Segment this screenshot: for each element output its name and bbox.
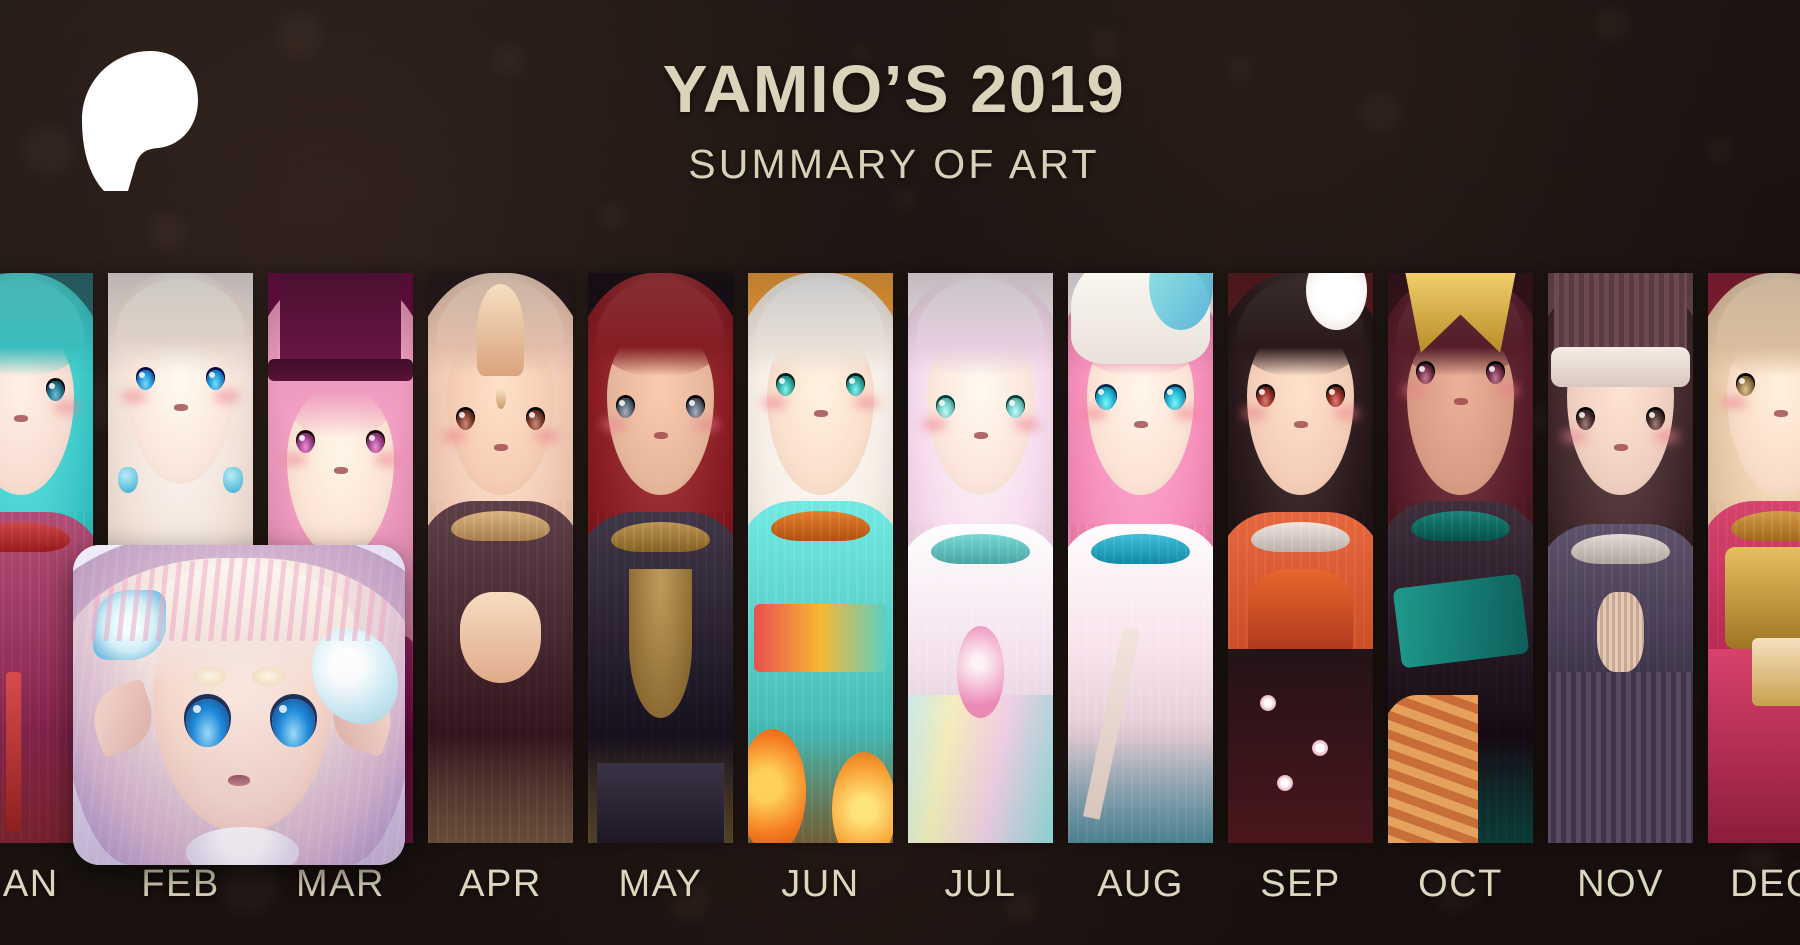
teal-sash: [1392, 573, 1528, 668]
artwork-oct: [1388, 273, 1533, 843]
gold-crown: [477, 284, 523, 375]
month-panel-aug[interactable]: [1068, 273, 1213, 843]
month-label-mar: MAR: [268, 863, 413, 906]
month-panel-may[interactable]: [588, 273, 733, 843]
dark-skirt: [1228, 649, 1373, 843]
month-panel-oct[interactable]: [1388, 273, 1533, 843]
month-label-jul: JUL: [908, 863, 1053, 906]
month-label-nov: NOV: [1548, 863, 1693, 906]
rose-motif-0: [1260, 695, 1276, 711]
month-label-oct: OCT: [1388, 863, 1533, 906]
month-label-aug: AUG: [1068, 863, 1213, 906]
month-label-apr: APR: [428, 863, 573, 906]
rose-corsage: [957, 626, 1003, 717]
month-panel-jul[interactable]: [908, 273, 1053, 843]
rose-motif-2: [1277, 775, 1293, 791]
bustier: [460, 592, 541, 683]
month-label-jan: JAN: [0, 863, 93, 906]
artwork-nov: [1548, 273, 1693, 843]
month-panel-nov[interactable]: [1548, 273, 1693, 843]
overlay-glow: [73, 545, 405, 865]
month-label-feb: FEB: [108, 863, 253, 906]
orange-corset: [1248, 569, 1352, 660]
forehead-gem: [496, 387, 506, 409]
month-label-jun: JUN: [748, 863, 893, 906]
artwork-may: [588, 273, 733, 843]
title-block: YAMIO’S 2019 SUMMARY OF ART: [0, 55, 1800, 188]
pleated-dress: [1548, 672, 1693, 843]
artwork-jun: [748, 273, 893, 843]
hat-fur-trim: [1551, 347, 1690, 387]
thigh-straps: [597, 763, 725, 843]
artwork-apr: [428, 273, 573, 843]
poster-canvas: YAMIO’S 2019 SUMMARY OF ART JANFEBMARAPR…: [0, 0, 1800, 945]
gold-necklace: [629, 569, 693, 717]
hat-brim: [268, 359, 413, 382]
gold-pauldron: [1725, 547, 1800, 650]
red-tassel: [6, 672, 21, 832]
panel-vignette: [588, 273, 733, 843]
page-subtitle: SUMMARY OF ART: [0, 141, 1788, 188]
month-label-dec: DEC: [1700, 863, 1800, 906]
month-panel-jun[interactable]: [748, 273, 893, 843]
month-panel-apr[interactable]: [428, 273, 573, 843]
artwork-sep: [1228, 273, 1373, 843]
artwork-aug: [1068, 273, 1213, 843]
page-title: YAMIO’S 2019: [0, 55, 1788, 125]
month-label-may: MAY: [588, 863, 733, 906]
gold-belt: [1752, 638, 1800, 706]
month-panel-sep[interactable]: [1228, 273, 1373, 843]
artwork-jul: [908, 273, 1053, 843]
header: YAMIO’S 2019 SUMMARY OF ART: [0, 0, 1800, 273]
february-zoom-artwork: [73, 545, 405, 865]
right-earring: [223, 467, 243, 493]
february-zoom-thumbnail[interactable]: [73, 545, 405, 865]
ruff-collar: [1597, 592, 1643, 672]
rainbow-sash: [754, 604, 887, 672]
month-panel-dec[interactable]: [1708, 273, 1800, 843]
month-label-sep: SEP: [1228, 863, 1373, 906]
artwork-dec: [1708, 273, 1800, 843]
ruffle-frills: [1388, 695, 1478, 843]
